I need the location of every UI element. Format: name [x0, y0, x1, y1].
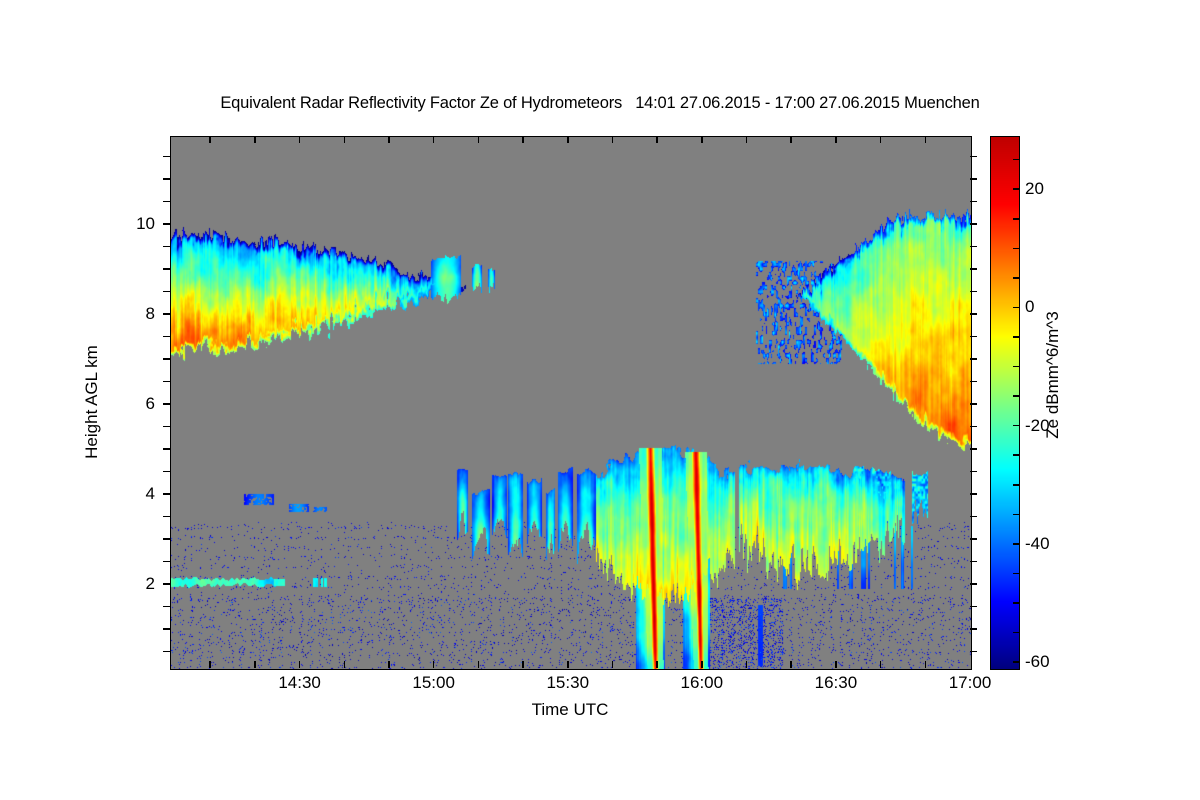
y-tick [163, 493, 170, 495]
x-tick [344, 661, 346, 668]
page-title: Equivalent Radar Reflectivity Factor Ze … [0, 94, 1200, 113]
y-tick [163, 201, 170, 203]
x-tick-top [388, 136, 390, 143]
colorbar-tick [1013, 543, 1019, 545]
colorbar-tick-label: -60 [1025, 652, 1050, 672]
y-tick-label: 4 [146, 484, 155, 504]
y-tick-right [970, 336, 977, 338]
y-tick-right [970, 403, 977, 405]
colorbar-tick [1013, 661, 1019, 663]
y-tick-right [970, 291, 977, 293]
x-tick [254, 661, 256, 668]
colorbar-tick [1013, 336, 1019, 338]
x-tick [522, 661, 524, 668]
x-tick-label: 16:00 [681, 673, 724, 693]
colorbar-tick [1013, 395, 1019, 397]
x-tick [612, 661, 614, 668]
x-tick [388, 661, 390, 668]
x-tick [925, 661, 927, 668]
x-tick-label: 15:30 [546, 673, 589, 693]
colorbar-tick [1013, 454, 1019, 456]
x-tick [790, 661, 792, 668]
y-tick-right [970, 606, 977, 608]
x-tick-label: 14:30 [278, 673, 321, 693]
x-tick [478, 661, 480, 668]
y-tick [163, 403, 170, 405]
x-tick [299, 661, 301, 668]
colorbar-axis-title: Ze dBmm^6/m^3 [1043, 311, 1063, 438]
y-tick-right [970, 313, 977, 315]
x-tick-top [656, 136, 658, 143]
y-tick-label: 10 [136, 214, 155, 234]
y-tick [163, 313, 170, 315]
colorbar-tick [1013, 159, 1019, 161]
x-tick-top [433, 136, 435, 143]
y-tick [163, 628, 170, 630]
y-axis-title: Height AGL km [82, 345, 102, 459]
colorbar-tick [1013, 602, 1019, 604]
colorbar-tick [1013, 484, 1019, 486]
colorbar-tick [1013, 307, 1019, 309]
y-tick [163, 561, 170, 563]
x-tick-label: 17:00 [949, 673, 992, 693]
radar-reflectivity-figure: Equivalent Radar Reflectivity Factor Ze … [0, 0, 1200, 800]
x-tick-top [790, 136, 792, 143]
y-tick [163, 426, 170, 428]
colorbar-tick [1013, 573, 1019, 575]
y-tick [163, 606, 170, 608]
plot-area [170, 136, 972, 670]
colorbar [990, 136, 1020, 670]
x-tick-top [567, 136, 569, 143]
x-tick [567, 661, 569, 668]
y-tick-right [970, 358, 977, 360]
colorbar-tick-label: 0 [1025, 297, 1034, 317]
y-tick-right [970, 223, 977, 225]
y-tick-right [970, 178, 977, 180]
x-tick-label: 16:30 [815, 673, 858, 693]
x-tick-top [522, 136, 524, 143]
y-tick [163, 651, 170, 653]
y-tick-label: 6 [146, 394, 155, 414]
colorbar-tick [1013, 366, 1019, 368]
y-tick-right [970, 426, 977, 428]
x-tick-top [254, 136, 256, 143]
colorbar-tick [1013, 188, 1019, 190]
colorbar-tick-label: 20 [1025, 179, 1044, 199]
y-tick [163, 291, 170, 293]
y-tick-right [970, 246, 977, 248]
colorbar-tick [1013, 514, 1019, 516]
y-tick [163, 381, 170, 383]
x-axis-title: Time UTC [532, 700, 609, 720]
x-tick-top [478, 136, 480, 143]
y-tick [163, 583, 170, 585]
x-tick [209, 661, 211, 668]
x-tick-label: 15:00 [412, 673, 455, 693]
y-tick [163, 223, 170, 225]
y-tick-label: 8 [146, 304, 155, 324]
x-tick-top [299, 136, 301, 143]
y-tick-right [970, 201, 977, 203]
y-tick-right [970, 538, 977, 540]
y-tick [163, 246, 170, 248]
x-tick [433, 661, 435, 668]
x-tick-top [835, 136, 837, 143]
reflectivity-heatmap [171, 137, 971, 669]
y-tick [163, 178, 170, 180]
y-tick [163, 336, 170, 338]
x-tick [880, 661, 882, 668]
y-tick-right [970, 448, 977, 450]
y-tick-right [970, 516, 977, 518]
x-tick-top [344, 136, 346, 143]
y-tick-right [970, 381, 977, 383]
colorbar-gradient [991, 137, 1019, 669]
y-tick-right [970, 471, 977, 473]
y-tick [163, 358, 170, 360]
y-tick-right [970, 628, 977, 630]
y-tick-right [970, 583, 977, 585]
x-tick-top [746, 136, 748, 143]
colorbar-tick [1013, 425, 1019, 427]
colorbar-tick [1013, 277, 1019, 279]
y-tick [163, 156, 170, 158]
x-tick [701, 661, 703, 668]
colorbar-tick [1013, 248, 1019, 250]
x-tick-top [925, 136, 927, 143]
x-tick-top [880, 136, 882, 143]
x-tick-top [701, 136, 703, 143]
y-tick [163, 268, 170, 270]
y-tick-right [970, 268, 977, 270]
y-tick [163, 448, 170, 450]
y-tick-right [970, 561, 977, 563]
x-tick [656, 661, 658, 668]
colorbar-tick-label: -40 [1025, 534, 1050, 554]
y-tick-right [970, 156, 977, 158]
y-tick [163, 516, 170, 518]
x-tick [835, 661, 837, 668]
colorbar-tick [1013, 218, 1019, 220]
y-tick [163, 471, 170, 473]
y-tick-label: 2 [146, 574, 155, 594]
y-tick-right [970, 651, 977, 653]
x-tick [746, 661, 748, 668]
y-tick-right [970, 493, 977, 495]
colorbar-tick [1013, 632, 1019, 634]
x-tick-top [612, 136, 614, 143]
x-tick-top [209, 136, 211, 143]
y-tick [163, 538, 170, 540]
